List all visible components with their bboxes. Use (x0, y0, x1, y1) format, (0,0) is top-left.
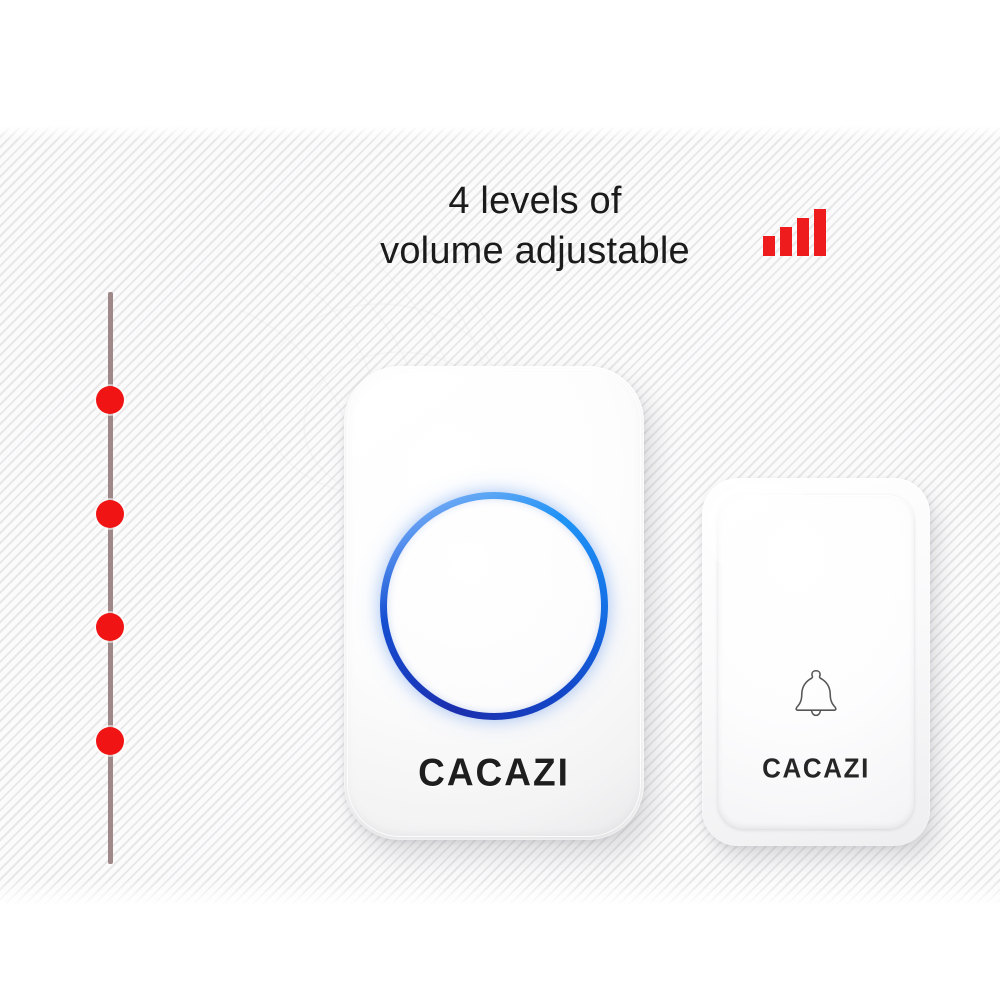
product-banner: 4 levels of volume adjustable CACAZI CAC… (0, 0, 1000, 1000)
signal-bar-2 (780, 227, 792, 256)
push-button-face: CACAZI (718, 495, 914, 829)
background-fade-bottom (0, 880, 1000, 914)
bell-icon (785, 663, 847, 725)
volume-level-track (108, 292, 113, 864)
signal-bars-icon (763, 206, 829, 256)
volume-level-dot-3 (96, 613, 124, 641)
doorbell-receiver-unit: CACAZI (344, 366, 644, 840)
page-title: 4 levels of volume adjustable (330, 176, 740, 276)
receiver-brand-label: CACAZI (344, 751, 644, 796)
volume-level-dot-4 (96, 727, 124, 755)
signal-bar-3 (797, 218, 809, 256)
volume-level-dot-1 (96, 386, 124, 414)
volume-level-dot-2 (96, 500, 124, 528)
led-ring (380, 492, 608, 720)
signal-bar-4 (814, 209, 826, 256)
doorbell-push-button: CACAZI (702, 478, 930, 846)
signal-bar-1 (763, 236, 775, 256)
push-button-brand-label: CACAZI (718, 752, 914, 785)
